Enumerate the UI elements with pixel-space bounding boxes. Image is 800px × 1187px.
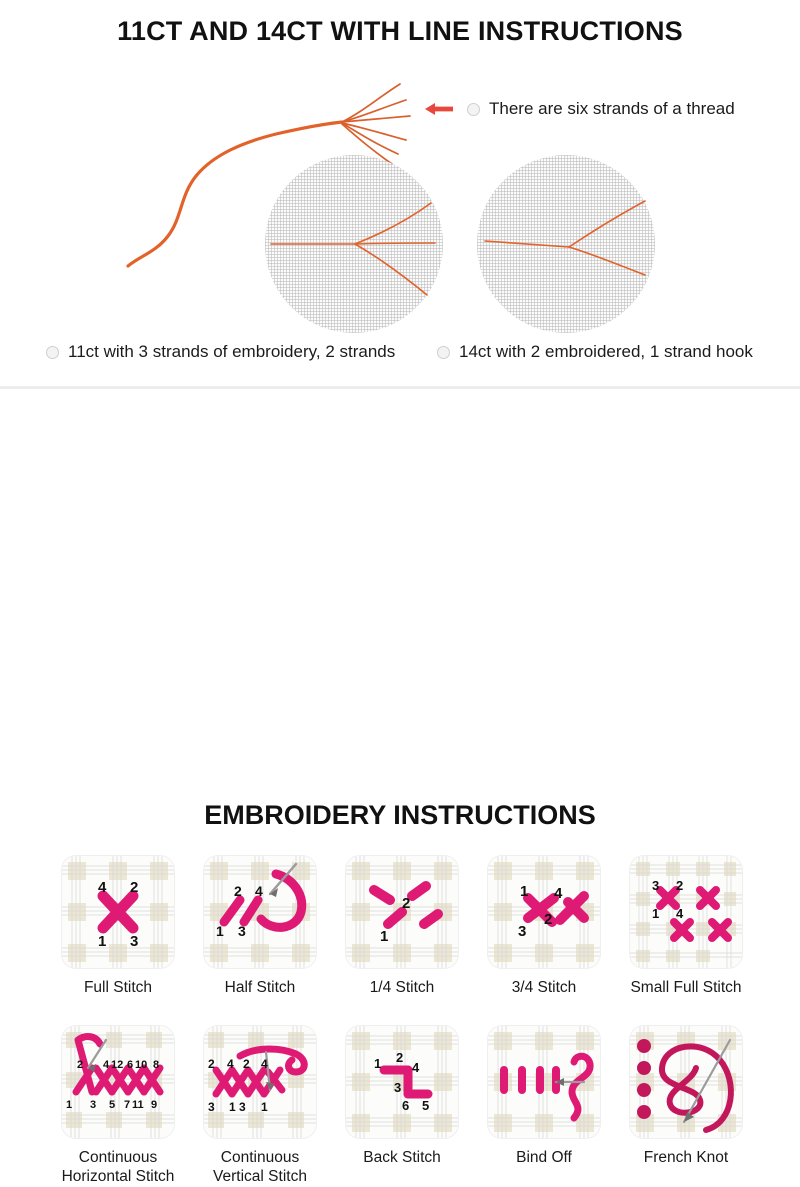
stitch-cell-continuous-vertical-stitch: 2 4 2 4 3 1 3 1 Continuous Vertical Sti bbox=[194, 1026, 326, 1187]
stitch-label-three-quarter-stitch: 3/4 Stitch bbox=[512, 979, 577, 998]
stitch-number: 3 bbox=[208, 1100, 215, 1114]
stitch-number: 2 bbox=[402, 895, 410, 912]
stitch-number: 10 bbox=[135, 1059, 147, 1071]
fabric-swatch-14ct bbox=[477, 155, 655, 333]
stitch-cell-three-quarter-stitch: 1 4 2 3 3/4 Stitch bbox=[478, 856, 610, 998]
stitch-label-bind-off: Bind Off bbox=[516, 1149, 572, 1168]
six-strands-note: There are six strands of a thread bbox=[467, 99, 735, 119]
stitch-label-quarter-stitch: 1/4 Stitch bbox=[370, 979, 435, 998]
stitch-label-half-stitch: Half Stitch bbox=[225, 979, 296, 998]
stitch-tile-french-knot bbox=[630, 1026, 742, 1138]
stitch-tile-quarter-stitch: 2 1 bbox=[346, 856, 458, 968]
stitch-number: 4 bbox=[255, 883, 263, 899]
stitch-label-continuous-horizontal-stitch: Continuous Horizontal Stitch bbox=[62, 1149, 175, 1187]
stitch-cell-full-stitch: 4 2 1 3 Full Stitch bbox=[52, 856, 184, 998]
stitch-number: 3 bbox=[652, 878, 659, 893]
bullet-dot-icon bbox=[46, 346, 59, 359]
stitch-number: 3 bbox=[90, 1099, 96, 1111]
page-title: 11CT AND 14CT WITH LINE INSTRUCTIONS bbox=[0, 16, 800, 47]
stitch-tile-half-stitch: 2 4 1 3 bbox=[204, 856, 316, 968]
stitch-number: 2 bbox=[243, 1057, 250, 1071]
stitch-cell-quarter-stitch: 2 1 1/4 Stitch bbox=[336, 856, 468, 998]
stitch-number: 4 bbox=[98, 879, 107, 896]
stitch-number: 2 bbox=[676, 878, 683, 893]
stitch-number: 5 bbox=[109, 1099, 115, 1111]
stitch-tile-back-stitch: 1 2 4 3 6 5 bbox=[346, 1026, 458, 1138]
stitch-number: 2 bbox=[234, 883, 242, 899]
stitch-number: 1 bbox=[261, 1100, 268, 1114]
section-divider bbox=[0, 386, 800, 389]
stitch-tile-bind-off bbox=[488, 1026, 600, 1138]
stitch-number: 4 bbox=[103, 1059, 110, 1071]
embroidery-title: EMBROIDERY INSTRUCTIONS bbox=[0, 800, 800, 831]
stitch-number: 7 bbox=[124, 1099, 130, 1111]
stitch-number: 1 bbox=[98, 933, 106, 950]
stitch-number: 4 bbox=[412, 1060, 420, 1075]
stitch-label-small-full-stitch: Small Full Stitch bbox=[630, 979, 741, 998]
stitch-number: 1 bbox=[520, 883, 528, 900]
bullet-dot-icon bbox=[437, 346, 450, 359]
stitch-number: 8 bbox=[153, 1059, 159, 1071]
six-strands-note-label: There are six strands of a thread bbox=[489, 99, 735, 119]
stitch-cell-bind-off: Bind Off bbox=[478, 1026, 610, 1187]
section-line-instructions: 11CT AND 14CT WITH LINE INSTRUCTIONS bbox=[0, 0, 800, 386]
caption-14ct-label: 14ct with 2 embroidered, 1 strand hook bbox=[459, 342, 753, 362]
stitch-number: 1 bbox=[216, 923, 224, 939]
stitch-row: 2 4 12 6 10 8 1 3 5 7 11 bbox=[52, 1026, 752, 1187]
stitch-number: 4 bbox=[261, 1057, 268, 1071]
stitch-label-french-knot: French Knot bbox=[644, 1149, 728, 1168]
stitch-number: 1 bbox=[66, 1099, 72, 1111]
bullet-dot-icon bbox=[467, 103, 480, 116]
stitch-number: 1 bbox=[229, 1100, 236, 1114]
stitch-grid: 4 2 1 3 Full Stitch bbox=[52, 856, 752, 1187]
stitch-number: 12 bbox=[111, 1059, 123, 1071]
stitch-cell-small-full-stitch: 3 2 1 4 Small Full Stitch bbox=[620, 856, 752, 998]
stitch-number: 1 bbox=[374, 1056, 381, 1071]
stitch-number: 4 bbox=[554, 885, 563, 902]
stitch-number: 3 bbox=[518, 923, 526, 940]
stitch-number: 2 bbox=[396, 1050, 403, 1065]
stitch-cell-continuous-horizontal-stitch: 2 4 12 6 10 8 1 3 5 7 11 bbox=[52, 1026, 184, 1187]
caption-11ct-label: 11ct with 3 strands of embroidery, 2 str… bbox=[68, 342, 395, 362]
stitch-number: 3 bbox=[239, 1100, 246, 1114]
stitch-tile-continuous-horizontal-stitch: 2 4 12 6 10 8 1 3 5 7 11 bbox=[62, 1026, 174, 1138]
stitch-number: 2 bbox=[77, 1059, 83, 1071]
stitch-label-full-stitch: Full Stitch bbox=[84, 979, 152, 998]
stitch-number: 1 bbox=[380, 928, 388, 945]
stitch-number: 3 bbox=[130, 933, 138, 950]
stitch-tile-small-full-stitch: 3 2 1 4 bbox=[630, 856, 742, 968]
stitch-number: 6 bbox=[127, 1059, 133, 1071]
stitch-label-continuous-vertical-stitch: Continuous Vertical Stitch bbox=[213, 1149, 307, 1187]
stitch-label-back-stitch: Back Stitch bbox=[363, 1149, 441, 1168]
stitch-tile-continuous-vertical-stitch: 2 4 2 4 3 1 3 1 bbox=[204, 1026, 316, 1138]
stitch-tile-three-quarter-stitch: 1 4 2 3 bbox=[488, 856, 600, 968]
stitch-number: 11 bbox=[132, 1099, 144, 1111]
stitch-cell-back-stitch: 1 2 4 3 6 5 Back Stitch bbox=[336, 1026, 468, 1187]
caption-11ct: 11ct with 3 strands of embroidery, 2 str… bbox=[46, 342, 395, 362]
stitch-tile-full-stitch: 4 2 1 3 bbox=[62, 856, 174, 968]
stitch-number: 5 bbox=[422, 1098, 429, 1113]
page-root: 11CT AND 14CT WITH LINE INSTRUCTIONS bbox=[0, 0, 800, 800]
stitch-number: 4 bbox=[227, 1057, 234, 1071]
caption-14ct: 14ct with 2 embroidered, 1 strand hook bbox=[437, 342, 753, 362]
stitch-number: 4 bbox=[676, 906, 684, 921]
fabric-swatch-11ct bbox=[265, 155, 443, 333]
stitch-number: 3 bbox=[394, 1080, 401, 1095]
arrow-left-icon bbox=[424, 101, 454, 117]
stitch-cell-half-stitch: 2 4 1 3 Half Stitch bbox=[194, 856, 326, 998]
stitch-number: 9 bbox=[151, 1099, 157, 1111]
stitch-row: 4 2 1 3 Full Stitch bbox=[52, 856, 752, 998]
stitch-number: 2 bbox=[130, 879, 138, 896]
stitch-number: 1 bbox=[652, 906, 659, 921]
stitch-number: 3 bbox=[238, 923, 246, 939]
stitch-number: 2 bbox=[544, 911, 552, 928]
stitch-number: 2 bbox=[208, 1057, 215, 1071]
stitch-number: 6 bbox=[402, 1098, 409, 1113]
stitch-cell-french-knot: French Knot bbox=[620, 1026, 752, 1187]
